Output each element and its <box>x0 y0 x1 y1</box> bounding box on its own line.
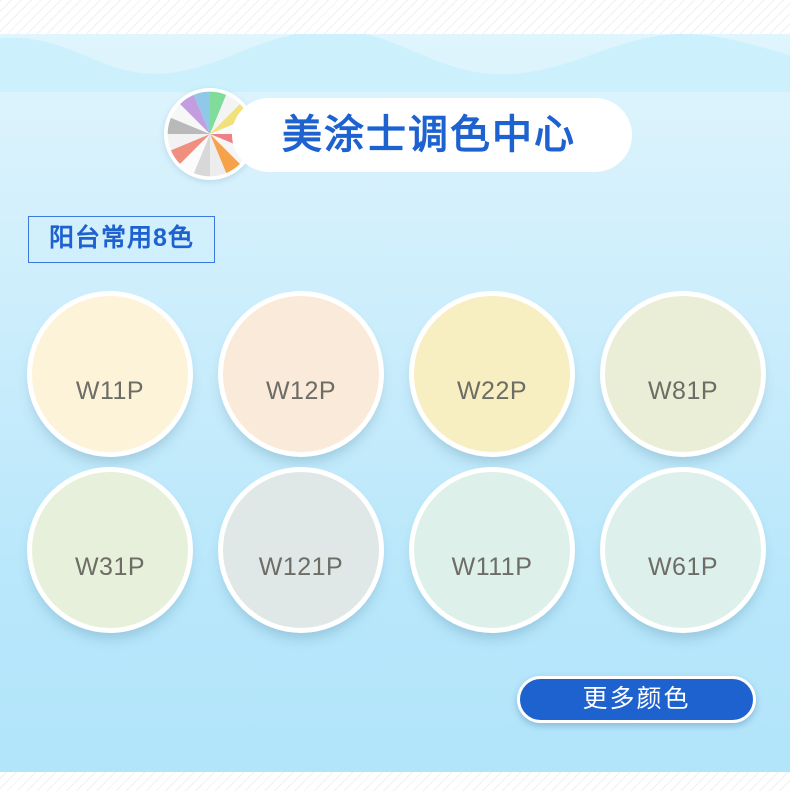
swatch-code-label: W61P <box>648 555 718 580</box>
swatch-code-label: W11P <box>76 379 144 404</box>
swatch-code-label: W12P <box>266 379 336 404</box>
top-stripe-band <box>0 0 790 34</box>
color-swatch[interactable]: W31P <box>27 467 193 633</box>
color-swatch[interactable]: W22P <box>409 291 575 457</box>
swatch-code-label: W81P <box>648 379 718 404</box>
swatch-code-label: W111P <box>452 555 533 580</box>
color-swatch[interactable]: W81P <box>600 291 766 457</box>
color-center-page: 美涂士调色中心 阳台常用8色 W11P W12P W22P W81P W31P <box>0 0 790 791</box>
swatch-grid: W11P W12P W22P W81P W31P W121P W111P <box>27 291 767 643</box>
section-label-box: 阳台常用8色 <box>28 216 215 263</box>
title-pill: 美涂士调色中心 <box>232 98 632 172</box>
color-swatch[interactable]: W121P <box>218 467 384 633</box>
color-swatch[interactable]: W12P <box>218 291 384 457</box>
color-swatch[interactable]: W111P <box>409 467 575 633</box>
page-header: 美涂士调色中心 <box>0 88 790 184</box>
swatch-code-label: W121P <box>259 555 343 580</box>
color-swatch[interactable]: W11P <box>27 291 193 457</box>
swatch-row: W11P W12P W22P W81P <box>27 291 767 457</box>
more-colors-label: 更多颜色 <box>582 687 690 712</box>
more-colors-button[interactable]: 更多颜色 <box>517 676 756 723</box>
swatch-code-label: W22P <box>457 379 527 404</box>
swatch-code-label: W31P <box>75 555 145 580</box>
bottom-stripe-band <box>0 772 790 791</box>
color-swatch[interactable]: W61P <box>600 467 766 633</box>
swatch-row: W31P W121P W111P W61P <box>27 467 767 633</box>
section-label-text: 阳台常用8色 <box>49 226 194 251</box>
page-title: 美涂士调色中心 <box>282 115 576 155</box>
